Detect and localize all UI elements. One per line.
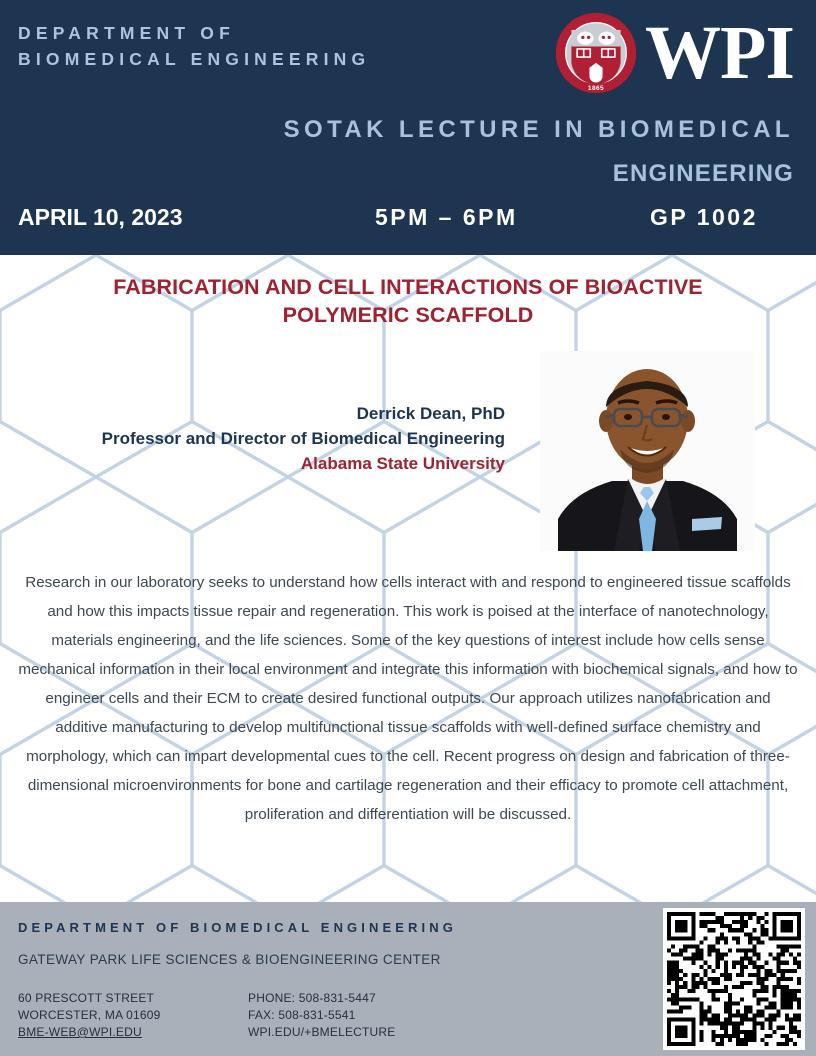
footer-center-name: GATEWAY PARK LIFE SCIENCES & BIOENGINEER… <box>18 952 441 967</box>
header-department-line-1: DEPARTMENT OF <box>18 23 235 44</box>
footer-fax: FAX: 508-831-5541 <box>248 1007 396 1024</box>
poster: DEPARTMENT OF BIOMEDICAL ENGINEERING <box>0 0 816 1056</box>
event-date: APRIL 10, 2023 <box>18 204 183 231</box>
footer-email-link[interactable]: BME-WEB@WPI.EDU <box>18 1024 161 1041</box>
speaker-name: Derrick Dean, PhD <box>55 401 505 426</box>
footer-website[interactable]: WPI.EDU/+BMELECTURE <box>248 1024 396 1041</box>
footer-address-column: 60 PRESCOTT STREET WORCESTER, MA 01609 B… <box>18 990 161 1041</box>
speaker-photo <box>540 351 755 551</box>
wpi-wordmark: WPI <box>645 15 794 91</box>
wpi-logo: 2 1865 WPI <box>555 12 794 94</box>
footer-address-line-2: WORCESTER, MA 01609 <box>18 1007 161 1024</box>
talk-title: FABRICATION AND CELL INTERACTIONS OF BIO… <box>50 273 766 329</box>
lecture-series-line-2: ENGINEERING <box>613 160 794 188</box>
header-department-line-2: BIOMEDICAL ENGINEERING <box>18 49 370 70</box>
footer-phone: PHONE: 508-831-5447 <box>248 990 396 1007</box>
abstract-text: Research in our laboratory seeks to unde… <box>18 568 798 829</box>
qr-code[interactable] <box>663 908 805 1050</box>
footer-address-line-1: 60 PRESCOTT STREET <box>18 990 161 1007</box>
event-time: 5PM – 6PM <box>375 204 518 231</box>
footer-contact-column: PHONE: 508-831-5447 FAX: 508-831-5541 WP… <box>248 990 396 1041</box>
event-location: GP 1002 <box>650 204 758 231</box>
lecture-series-line-1: SOTAK LECTURE IN BIOMEDICAL <box>284 116 794 144</box>
wpi-seal-icon: 2 1865 <box>555 12 637 94</box>
svg-text:2: 2 <box>594 52 599 63</box>
event-details-row: APRIL 10, 2023 5PM – 6PM GP 1002 <box>0 204 816 240</box>
poster-header: DEPARTMENT OF BIOMEDICAL ENGINEERING <box>0 0 816 255</box>
svg-text:1865: 1865 <box>588 85 604 92</box>
footer-department: DEPARTMENT OF BIOMEDICAL ENGINEERING <box>18 920 457 935</box>
speaker-institution: Alabama State University <box>55 451 505 476</box>
speaker-role: Professor and Director of Biomedical Eng… <box>55 426 505 451</box>
speaker-info: Derrick Dean, PhD Professor and Director… <box>55 401 505 476</box>
